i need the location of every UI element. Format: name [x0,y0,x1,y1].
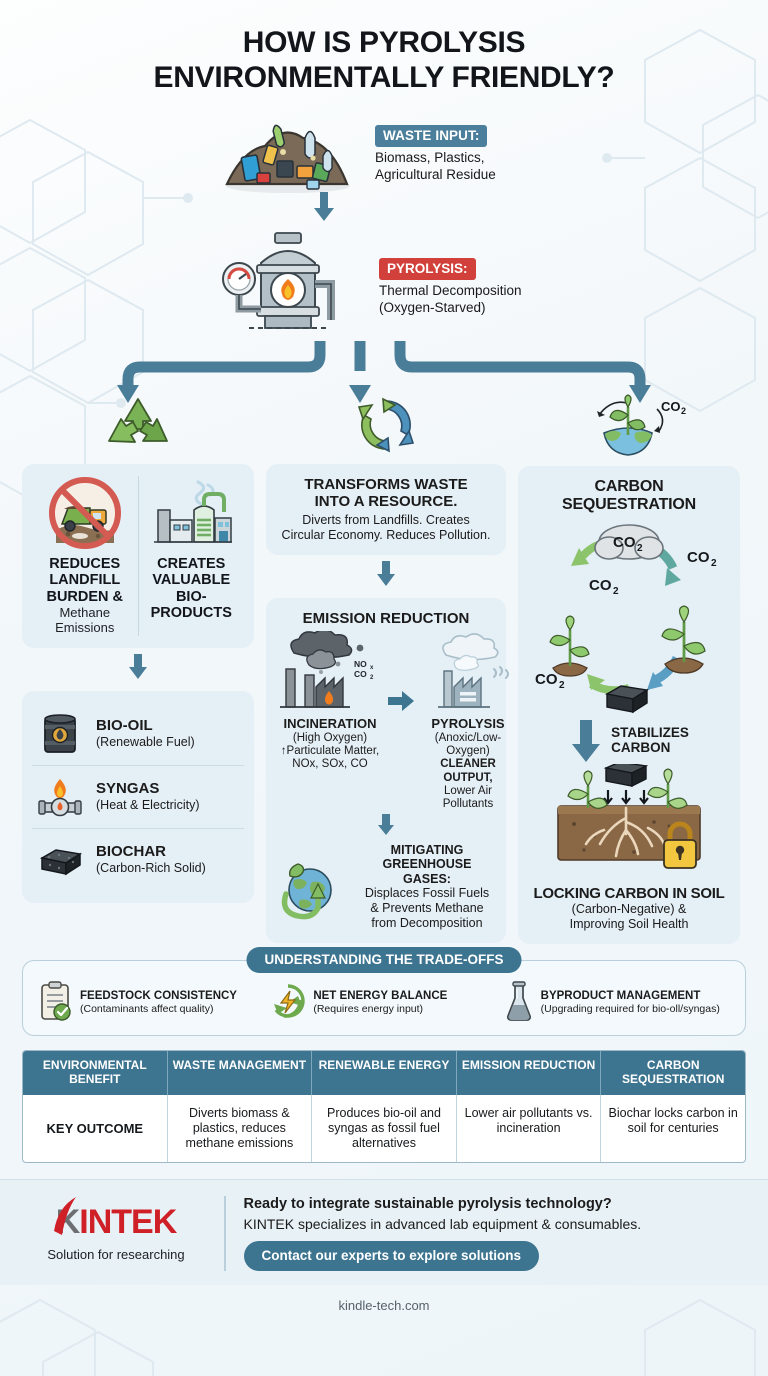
product-bio-oil: BIO-OIL (Renewable Fuel) [32,703,244,765]
reduces-landfill-card: REDUCES LANDFILL BURDEN & Methane Emissi… [32,476,139,636]
tradeoffs-pill: UNDERSTANDING THE TRADE-OFFS [247,947,522,973]
pyrolysis-section: PYROLYSIS: Thermal Decomposition (Oxygen… [0,229,768,347]
creates-bioproducts-line-3: BIO- [145,589,239,606]
bio-products-panel: BIO-OIL (Renewable Fuel) [22,691,254,903]
table-cell-1: Diverts biomass & plastics, reduces meth… [168,1095,313,1162]
middle-column: TRANSFORMS WASTE INTO A RESOURCE. Divert… [266,407,506,943]
table-cell-2: Produces bio-oil and syngas as fossil fu… [312,1095,457,1162]
table-header-3: EMISSION REDUCTION [457,1051,602,1095]
ghg-block: MITIGATING GREENHOUSE GASES: Displaces F… [276,843,496,931]
plant-soil-left [550,616,589,676]
table-header-1: WASTE MANAGEMENT [168,1051,313,1095]
smoky-factory-icon: NO x CO 2 [276,631,384,715]
pyrolysis-compare-block: PYROLYSIS (Anoxic/Low-Oxygen) CLEANER OU… [418,631,518,812]
product-bio-oil-sub: (Renewable Fuel) [96,735,195,749]
sprout-left [568,771,607,808]
ghg-body-2: & Prevents Methane [358,901,496,916]
stabilizes-line-1: STABILIZES [611,726,689,741]
reduces-landfill-sub-1: Methane [38,605,132,620]
svg-text:2: 2 [681,406,686,416]
incineration-sub-1: (High Oxygen) [276,732,384,745]
footer-divider [224,1196,226,1271]
creates-bioproducts-card: CREATES VALUABLE BIO- PRODUCTS [139,476,245,636]
svg-text:2: 2 [637,543,643,554]
product-syngas: SYNGAS (Heat & Electricity) [32,765,244,828]
reduces-landfill-line-3: BURDEN & [38,589,132,606]
ghg-body-1: Displaces Fossil Fuels [358,886,496,901]
table-header-2: RENEWABLE ENERGY [312,1051,457,1095]
waste-input-section: WASTE INPUT: Biomass, Plastics, Agricult… [0,116,768,194]
arrow-down-icon [569,720,603,762]
waste-pile-icon [213,116,363,194]
pyrolysis-compare-sub-3: Lower Air Pollutants [418,785,518,812]
sprout-right [648,769,687,808]
no-landfill-truck-icon [42,476,128,550]
reduces-landfill-sub-2: Emissions [38,620,132,635]
svg-text:2: 2 [613,586,619,597]
tradeoff-feedstock-head: FEEDSTOCK CONSISTENCY [80,990,237,1003]
stabilizes-line-2: CARBON [611,741,689,756]
cta-subheading: KINTEK specializes in advanced lab equip… [244,1216,743,1234]
svg-text:CO: CO [687,549,710,566]
ghg-head-2: GREENHOUSE GASES: [358,857,496,886]
product-biochar-name: BIOCHAR [96,844,206,861]
circular-arrows-icon [353,395,419,455]
carbon-sequestration-title: CARBON SEQUESTRATION [528,478,730,514]
locking-carbon-sub-1: (Carbon-Negative) & [528,902,730,917]
table-header-4: CARBON SEQUESTRATION [601,1051,745,1095]
recycle-icon [103,395,173,455]
biochar-block-cycle [607,686,647,712]
footer-cta-bar: KINTEK Solution for researching Ready to… [0,1179,768,1285]
pyrolysis-compare-sub-2: CLEANER OUTPUT, [440,758,496,783]
summary-table: ENVIRONMENTAL BENEFIT WASTE MANAGEMENT R… [22,1050,746,1163]
green-earth-arrow-icon [276,852,352,922]
flow-arrow-to-reactor [0,192,768,227]
incineration-sub-2: ↑Particulate Matter, [276,745,384,758]
energy-bolt-recycle-icon [270,982,306,1022]
creates-bioproducts-line-1: CREATES [145,556,239,573]
waste-input-line-1: Biomass, Plastics, [375,150,555,167]
incineration-block: NO x CO 2 INCINERATION ( [276,631,384,772]
carbon-cycle-diagram: CO 2 CO 2 CO 2 CO 2 [529,518,729,718]
reduces-landfill-line-1: REDUCES [38,556,132,573]
product-biochar: BIOCHAR (Carbon-Rich Solid) [32,828,244,891]
tradeoff-energy-sub: (Requires energy input) [313,1003,447,1015]
tradeoff-byproduct-management: BYPRODUCT MANAGEMENT (Upgrading required… [504,981,731,1023]
waste-input-badge: WASTE INPUT: [375,125,487,147]
tradeoff-net-energy-balance: NET ENERGY BALANCE (Requires energy inpu… [270,981,497,1023]
cta-heading: Ready to integrate sustainable pyrolysis… [244,1196,743,1213]
left-column: REDUCES LANDFILL BURDEN & Methane Emissi… [22,407,254,903]
tradeoff-feedstock-consistency: FEEDSTOCK CONSISTENCY (Contaminants affe… [37,981,264,1023]
ghg-body-3: from Decomposition [358,916,496,931]
table-header-row: ENVIRONMENTAL BENEFIT WASTE MANAGEMENT R… [23,1051,745,1095]
stabilizes-carbon-block: STABILIZES CARBON [528,720,730,762]
waste-input-line-2: Agricultural Residue [375,167,555,184]
tradeoff-byproduct-sub: (Upgrading required for bio-oll/syngas) [541,1003,720,1015]
emission-reduction-panel: EMISSION REDUCTION NO x CO [266,598,506,943]
pyrolysis-line-1: Thermal Decomposition [379,283,559,300]
oil-barrel-icon [36,712,84,756]
earth-sprout-co2-icon: CO 2 [571,393,687,459]
biochar-block-icon [36,838,84,882]
svg-text:x: x [370,665,374,671]
product-bio-oil-name: BIO-OIL [96,718,195,735]
kintek-tagline: Solution for researching [26,1247,206,1262]
gas-pipe-flame-icon [36,775,84,819]
locking-carbon-head: LOCKING CARBON IN SOIL [528,886,730,903]
transforms-head-1: TRANSFORMS WASTE [276,476,496,493]
product-syngas-name: SYNGAS [96,781,200,798]
incineration-sub-3: NOx, SOx, CO [276,758,384,771]
arrow-right-icon [388,691,414,752]
incineration-name: INCINERATION [276,717,384,732]
table-cell-4: Biochar locks carbon in soil for centuri… [601,1095,745,1162]
three-column-section: REDUCES LANDFILL BURDEN & Methane Emissi… [0,407,768,945]
kintek-logo: KINTEK Solution for researching [26,1205,206,1262]
table-cell-3: Lower air pollutants vs. incineration [457,1095,602,1162]
product-syngas-sub: (Heat & Electricity) [96,798,200,812]
site-url: kindle-tech.com [0,1285,768,1313]
title-line-1: HOW IS PYROLYSIS [30,26,738,61]
svg-text:NO: NO [354,659,367,669]
pyrolysis-reactor-icon [209,229,369,347]
pyrolysis-badge: PYROLYSIS: [379,258,476,280]
transforms-waste-panel: TRANSFORMS WASTE INTO A RESOURCE. Divert… [266,464,506,556]
svg-text:CO: CO [589,577,612,594]
pyrolysis-line-2: (Oxygen-Starved) [379,300,559,317]
table-cell-0: KEY OUTCOME [23,1095,168,1162]
svg-text:CO: CO [535,671,558,688]
svg-text:2: 2 [370,675,374,681]
clean-factory-icon [418,631,518,715]
reduces-landfill-line-2: LANDFILL [38,572,132,589]
page-title: HOW IS PYROLYSIS ENVIRONMENTALLY FRIENDL… [0,0,768,100]
contact-experts-button[interactable]: Contact our experts to explore solutions [244,1241,540,1271]
tradeoff-byproduct-head: BYPRODUCT MANAGEMENT [541,990,720,1003]
svg-text:2: 2 [559,680,565,691]
tradeoff-energy-head: NET ENERGY BALANCE [313,990,447,1003]
svg-text:CO: CO [613,534,636,551]
pyrolysis-compare-name: PYROLYSIS [418,717,518,732]
soil-roots-lock-icon [534,764,724,884]
svg-text:CO: CO [661,399,681,414]
locking-carbon-sub-2: Improving Soil Health [528,917,730,932]
emission-reduction-title: EMISSION REDUCTION [276,610,496,627]
right-column: CO 2 CARBON SEQUESTRATION [518,407,740,945]
table-row: KEY OUTCOME Diverts biomass & plastics, … [23,1095,745,1162]
ghg-flow-arrow [276,814,496,841]
title-line-2: ENVIRONMENTALLY FRIENDLY? [30,61,738,96]
transforms-body-1: Diverts from Landfills. Creates [276,513,496,528]
svg-text:2: 2 [711,558,717,569]
tradeoff-feedstock-sub: (Contaminants affect quality) [80,1003,237,1015]
kintek-swoosh-icon [52,1197,78,1237]
creates-bioproducts-line-2: VALUABLE [145,572,239,589]
left-flow-arrow [22,654,254,685]
clipboard-check-icon [37,981,73,1023]
biorefinery-factory-icon [148,476,234,550]
product-biochar-sub: (Carbon-Rich Solid) [96,861,206,875]
table-header-0: ENVIRONMENTAL BENEFIT [23,1051,168,1095]
pyrolysis-compare-sub-1: (Anoxic/Low-Oxygen) [418,732,518,759]
flask-icon [504,981,534,1023]
landfill-bioproducts-panel: REDUCES LANDFILL BURDEN & Methane Emissi… [22,464,254,648]
tradeoffs-section: UNDERSTANDING THE TRADE-OFFS FEEDSTOCK C… [22,960,746,1036]
kintek-logo-rest: INTEK [79,1203,176,1241]
svg-text:CO: CO [354,669,367,679]
plant-soil-right [662,606,705,673]
footer-cta: Ready to integrate sustainable pyrolysis… [244,1196,743,1271]
creates-bioproducts-line-4: PRODUCTS [145,605,239,622]
ghg-head-1: MITIGATING [358,843,496,857]
mid-flow-arrow [266,561,506,592]
infographic-page: HOW IS PYROLYSIS ENVIRONMENTALLY FRIENDL… [0,0,768,1376]
transforms-head-2: INTO A RESOURCE. [276,493,496,510]
transforms-body-2: Circular Economy. Reduces Pollution. [276,528,496,543]
carbon-sequestration-panel: CARBON SEQUESTRATION [518,466,740,945]
